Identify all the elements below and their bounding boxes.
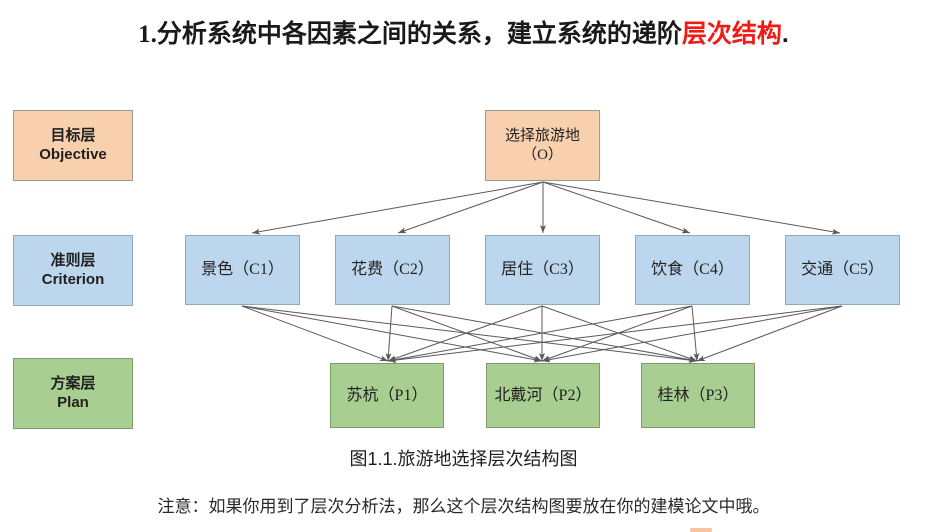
title-index: 1.	[138, 21, 157, 48]
legend-criterion: 准则层 Criterion	[13, 235, 133, 306]
node-plan-p1-label: 苏杭（P1）	[347, 386, 428, 406]
legend-objective-en: Objective	[39, 146, 107, 165]
title-text-after: .	[782, 20, 789, 48]
figure-caption: 图1.1.旅游地选择层次结构图	[0, 445, 927, 471]
legend-plan-zh: 方案层	[50, 375, 95, 394]
node-objective-line1: 选择旅游地	[505, 127, 580, 146]
node-criterion-c4: 饮食（C4）	[635, 235, 750, 305]
slide-canvas: 1.分析系统中各因素之间的关系，建立系统的递阶层次结构.	[0, 0, 927, 531]
edges-criteria-to-plans	[242, 306, 842, 361]
node-criterion-c1-label: 景色（C1）	[201, 260, 284, 280]
node-plan-p2: 北戴河（P2）	[486, 363, 600, 428]
node-criterion-c3-label: 居住（C3）	[501, 260, 584, 280]
node-criterion-c4-label: 饮食（C4）	[651, 260, 734, 280]
node-criterion-c2-label: 花费（C2）	[351, 260, 434, 280]
legend-plan: 方案层 Plan	[13, 358, 133, 429]
node-criterion-c1: 景色（C1）	[185, 235, 300, 305]
node-objective: 选择旅游地 （O）	[485, 110, 600, 181]
node-criterion-c5-label: 交通（C5）	[801, 260, 884, 280]
title-highlight: 层次结构	[682, 20, 782, 48]
legend-objective-zh: 目标层	[50, 127, 95, 146]
node-criterion-c2: 花费（C2）	[335, 235, 450, 305]
edges-objective-to-criteria	[252, 182, 840, 233]
node-plan-p3: 桂林（P3）	[641, 363, 755, 428]
legend-objective: 目标层 Objective	[13, 110, 133, 181]
legend-plan-en: Plan	[57, 394, 89, 413]
page-title: 1.分析系统中各因素之间的关系，建立系统的递阶层次结构.	[0, 14, 927, 50]
node-criterion-c5: 交通（C5）	[785, 235, 900, 305]
note-text: 注意：如果你用到了层次分析法，那么这个层次结构图要放在你的建模论文中哦。	[0, 492, 927, 517]
node-plan-p1: 苏杭（P1）	[330, 363, 444, 428]
node-plan-p2-label: 北戴河（P2）	[495, 386, 592, 406]
title-text-before: 分析系统中各因素之间的关系，建立系统的递阶	[157, 20, 682, 48]
node-plan-p3-label: 桂林（P3）	[658, 386, 739, 406]
node-objective-line2: （O）	[522, 146, 563, 165]
node-criterion-c3: 居住（C3）	[485, 235, 600, 305]
bottom-orange-sliver	[690, 528, 712, 532]
legend-criterion-zh: 准则层	[50, 252, 95, 271]
legend-criterion-en: Criterion	[42, 271, 105, 290]
